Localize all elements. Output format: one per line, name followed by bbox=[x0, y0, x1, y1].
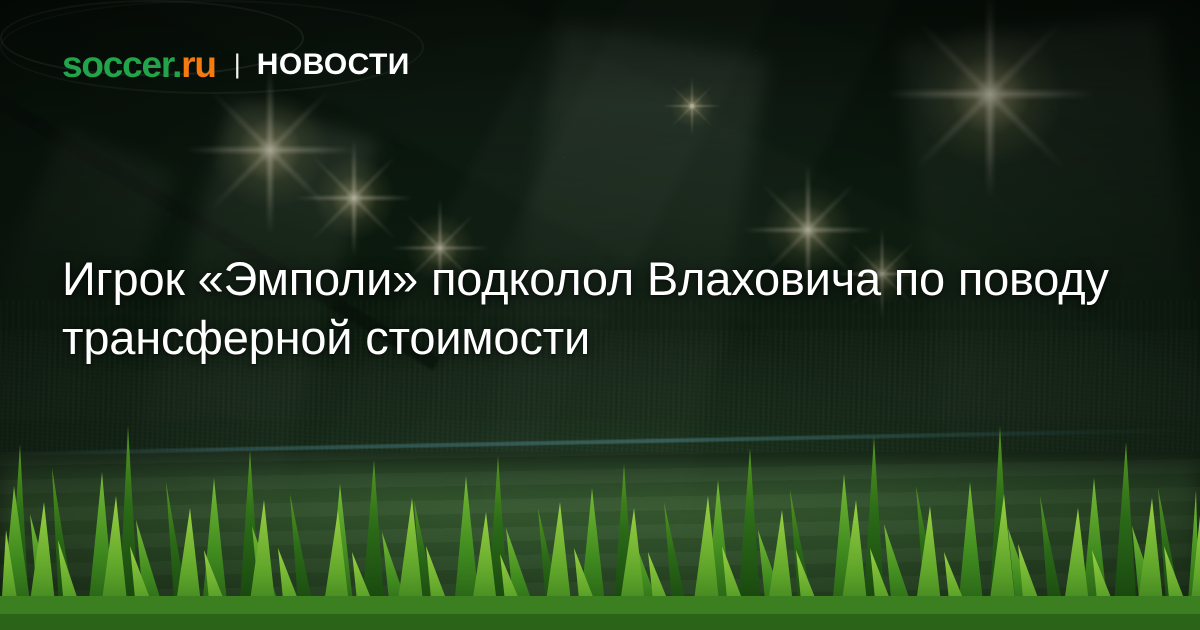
foreground-grass bbox=[0, 390, 1200, 630]
page-title: Игрок «Эмполи» подколол Влаховича по пов… bbox=[62, 250, 1152, 368]
logo-dot: . bbox=[172, 44, 181, 85]
site-logo[interactable]: soccer.ru bbox=[62, 46, 216, 83]
header-divider: | bbox=[234, 51, 241, 78]
news-share-card: soccer.ru | НОВОСТИ Игрок «Эмполи» подко… bbox=[0, 0, 1200, 630]
card-header: soccer.ru | НОВОСТИ bbox=[62, 46, 410, 83]
logo-name: soccer bbox=[62, 44, 172, 85]
logo-tld: ru bbox=[181, 44, 216, 85]
section-label: НОВОСТИ bbox=[257, 50, 410, 80]
